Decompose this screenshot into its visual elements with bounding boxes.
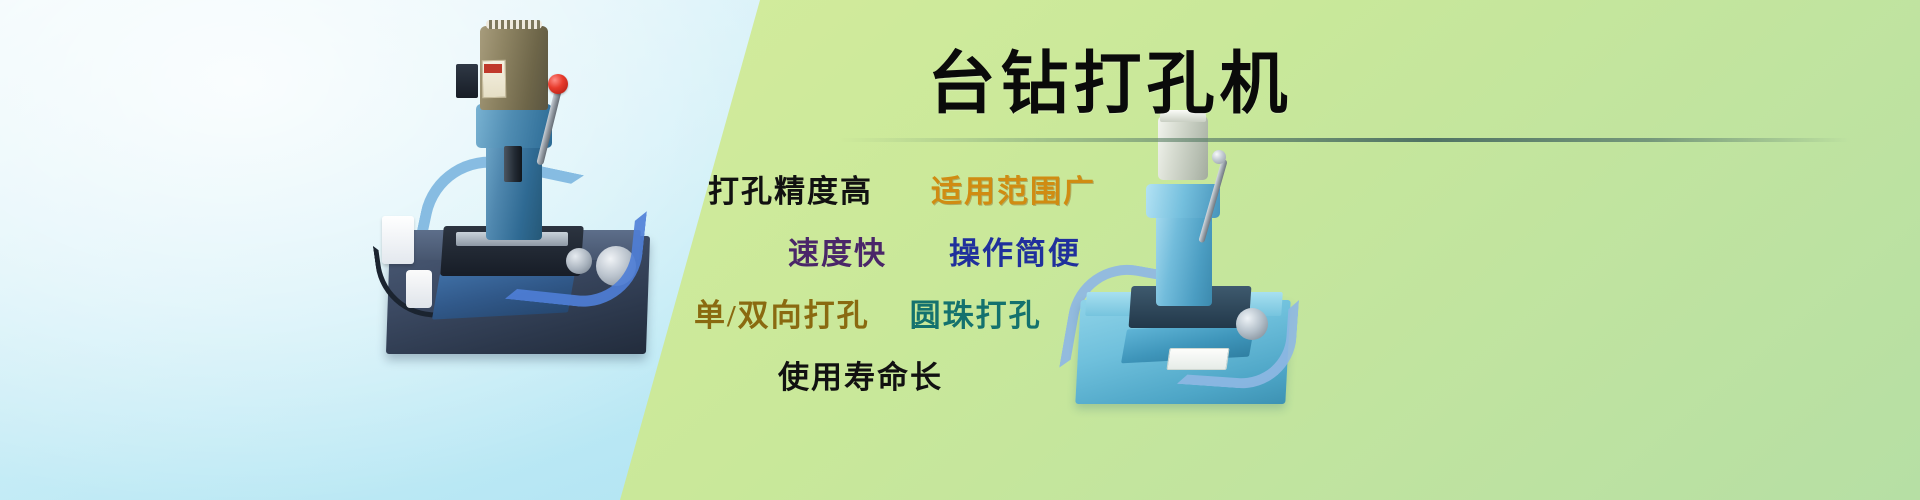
junction-box-left <box>456 64 478 98</box>
feature-row-1: 打孔精度高 适用范围广 <box>660 168 1360 214</box>
feature-row-3: 单/双向打孔 圆珠打孔 <box>660 292 1360 338</box>
feature-item-bead-drilling: 圆珠打孔 <box>910 300 1042 331</box>
feature-list: 打孔精度高 适用范围广 速度快 操作简便 单/双向打孔 圆珠打孔 使用寿命长 <box>660 168 1360 398</box>
feature-row-4: 使用寿命长 <box>660 354 1360 400</box>
feature-row-2: 速度快 操作简便 <box>660 230 1360 276</box>
bench-drill-machine-photo-left <box>360 8 680 378</box>
feature-item-speed: 速度快 <box>788 238 887 269</box>
feature-item-single-double-drilling: 单/双向打孔 <box>694 300 870 331</box>
control-box-left <box>382 216 414 264</box>
lever-knob-right <box>1212 150 1226 164</box>
title-divider <box>840 138 1850 142</box>
motor-label-red-left <box>484 64 502 73</box>
lever-knob-red-left <box>548 74 568 94</box>
feature-item-long-lifespan: 使用寿命长 <box>778 362 943 393</box>
drill-chuck-left <box>504 146 522 182</box>
control-box-secondary-left <box>406 270 432 308</box>
feature-item-application-range: 适用范围广 <box>931 176 1096 207</box>
banner-title: 台钻打孔机 <box>760 44 1460 124</box>
product-banner: 台钻打孔机 打孔精度高 适用范围广 速度快 操作简便 单/双向打孔 圆珠打孔 使… <box>0 0 1920 500</box>
feature-item-easy-operation: 操作简便 <box>949 238 1081 269</box>
feature-item-precision: 打孔精度高 <box>708 176 873 207</box>
motor-vent-left <box>486 20 542 29</box>
